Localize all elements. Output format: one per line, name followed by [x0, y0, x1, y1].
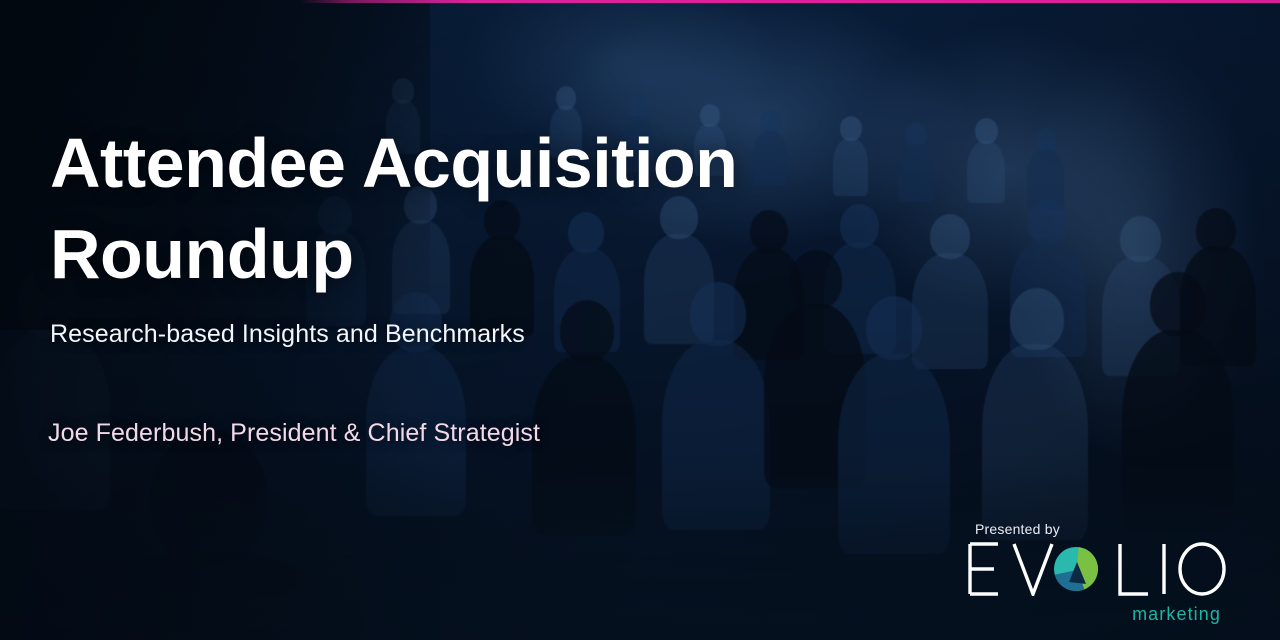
evolio-circle-mark — [1053, 546, 1099, 592]
top-accent-bar — [0, 0, 1280, 3]
presenter-logo-lockup: Presented by — [950, 512, 1235, 630]
logo-tagline: marketing — [1132, 604, 1221, 625]
presented-by-label: Presented by — [975, 521, 1060, 537]
subtitle: Research-based Insights and Benchmarks — [50, 320, 525, 349]
page-title: Attendee Acquisition Roundup — [50, 118, 840, 300]
title-slide: Attendee Acquisition Roundup Research-ba… — [0, 0, 1280, 640]
speaker-credit: Joe Federbush, President & Chief Strateg… — [48, 419, 540, 448]
